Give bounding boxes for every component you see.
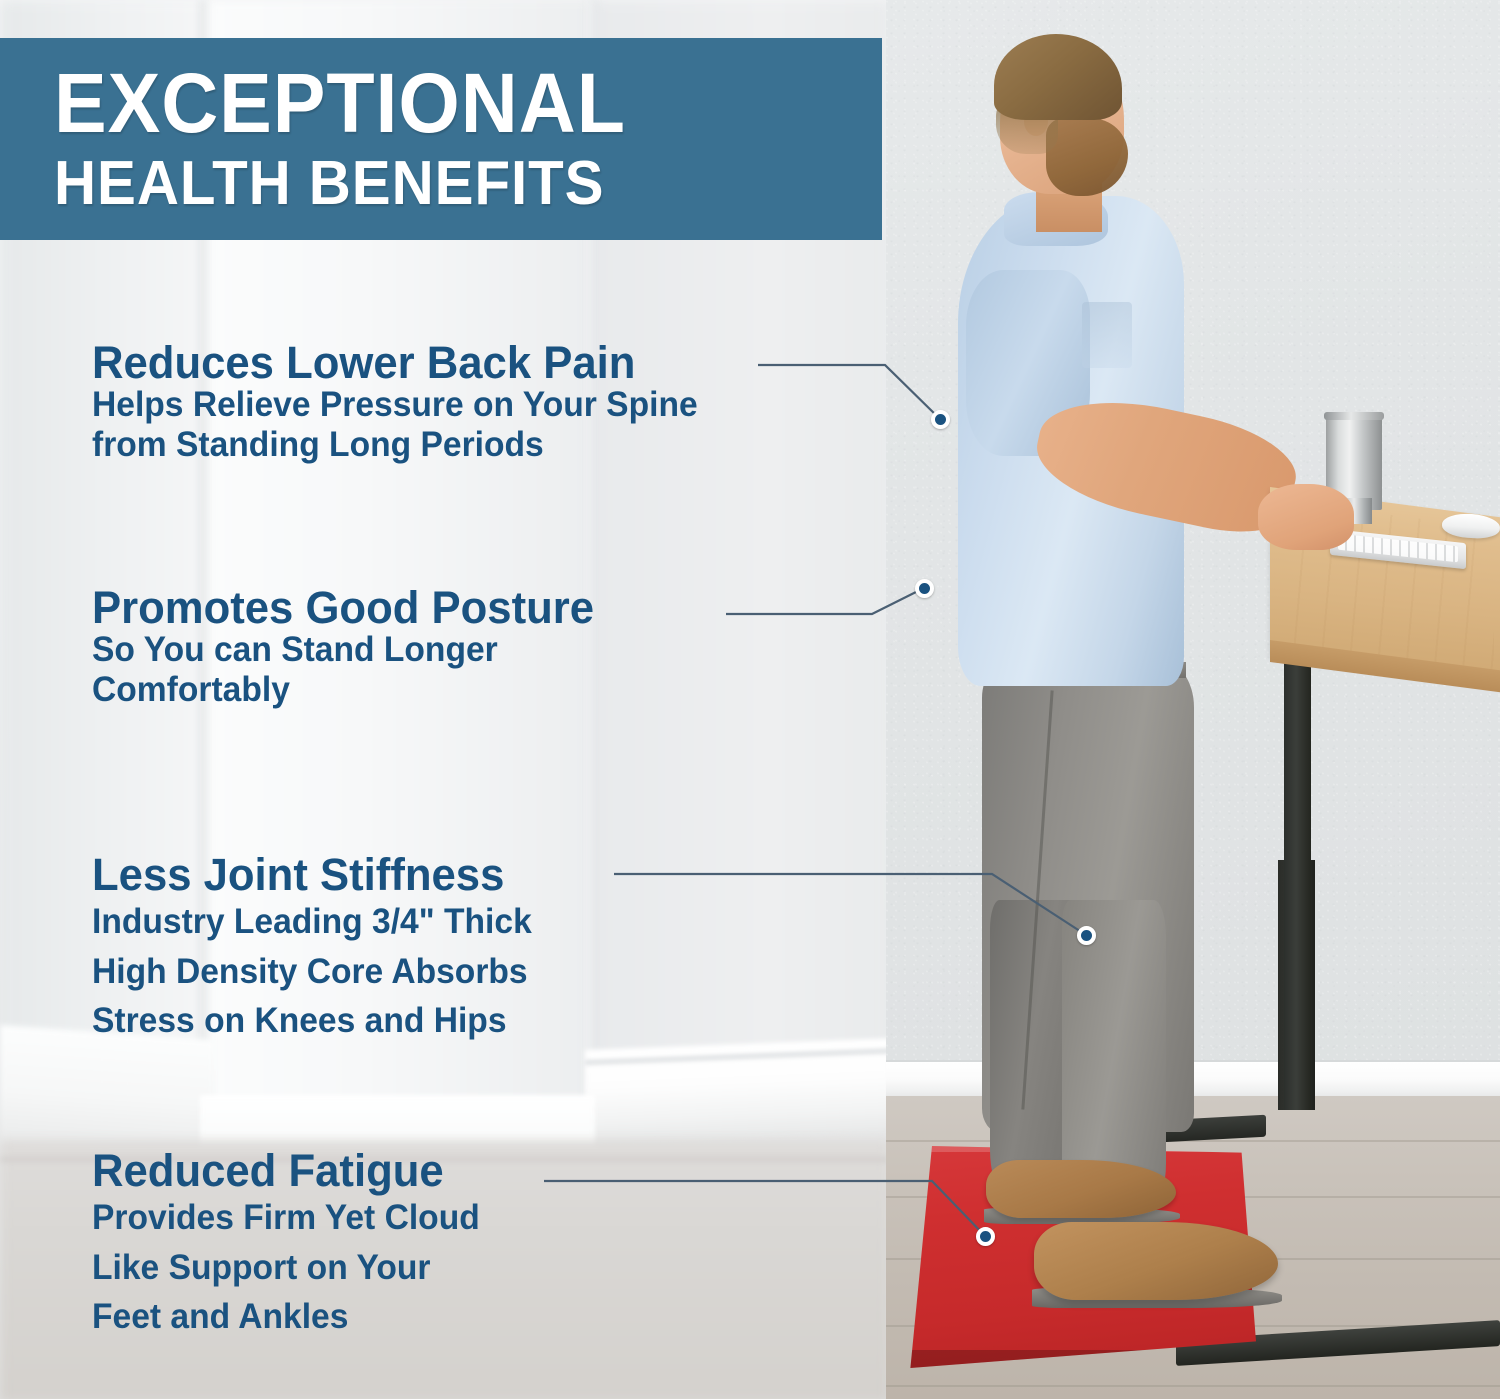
benefit-line: Comfortably — [92, 670, 589, 710]
infographic-poster: EXCEPTIONAL HEALTH BENEFITS Reduces Lowe… — [0, 0, 1500, 1399]
benefit-line: Helps Relieve Pressure on Your Spine — [92, 385, 698, 425]
standing-desk-leg — [1284, 655, 1311, 1110]
benefit-line: Industry Leading 3/4" Thick — [92, 897, 532, 947]
benefit-block-reduced-fatigue: Reduced Fatigue Provides Firm Yet Cloud … — [92, 1148, 496, 1342]
callout-dot-mat — [976, 1227, 995, 1246]
banner-title-line1: EXCEPTIONAL — [54, 63, 832, 144]
floor-plank-seam — [886, 1385, 1500, 1387]
benefit-block-promotes-good-posture: Promotes Good Posture So You can Stand L… — [92, 585, 610, 710]
benefit-title: Reduced Fatigue — [92, 1148, 484, 1193]
benefit-title: Reduces Lower Back Pain — [92, 340, 704, 385]
tumbler-lip — [1324, 412, 1384, 420]
benefit-line: Provides Firm Yet Cloud — [92, 1193, 480, 1243]
person-shoe-back — [986, 1160, 1176, 1218]
banner-title-line2: HEALTH BENEFITS — [54, 152, 832, 215]
benefit-line: Stress on Knees and Hips — [92, 996, 532, 1046]
header-banner: EXCEPTIONAL HEALTH BENEFITS — [0, 38, 882, 240]
benefit-block-less-joint-stiffness: Less Joint Stiffness Industry Leading 3/… — [92, 852, 550, 1046]
callout-dot-knee — [1077, 926, 1096, 945]
callout-dot-lower-back — [931, 410, 950, 429]
benefit-line: High Density Core Absorbs — [92, 947, 532, 997]
benefit-line: So You can Stand Longer — [92, 630, 589, 670]
benefit-line: Feet and Ankles — [92, 1292, 480, 1342]
person-shoe-front — [1034, 1222, 1278, 1300]
benefit-title: Less Joint Stiffness — [92, 852, 536, 897]
benefit-title: Promotes Good Posture — [92, 585, 594, 630]
benefit-line: from Standing Long Periods — [92, 425, 698, 465]
person-shirt-pocket — [1082, 302, 1132, 368]
callout-dot-posture — [915, 579, 934, 598]
benefit-line: Like Support on Your — [92, 1243, 480, 1293]
person-hand — [1258, 484, 1354, 550]
benefit-block-reduces-lower-back-pain: Reduces Lower Back Pain Helps Relieve Pr… — [92, 340, 723, 465]
product-photo — [886, 0, 1500, 1399]
